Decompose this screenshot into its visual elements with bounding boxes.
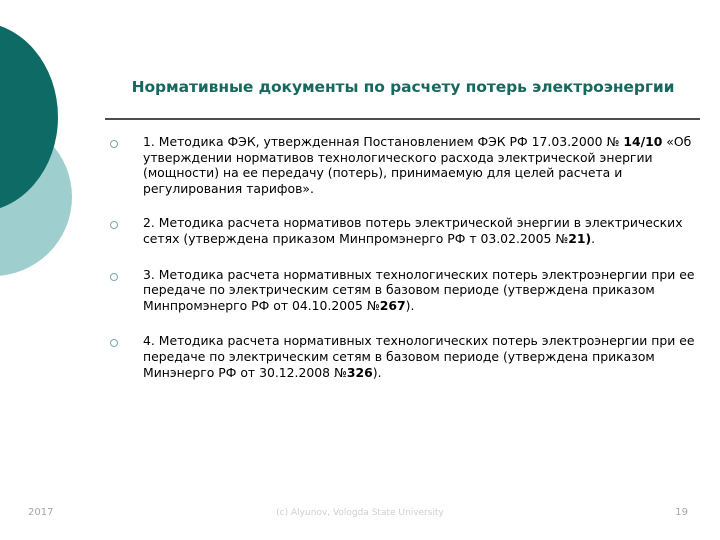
slide-canvas: Нормативные документы по расчету потерь … bbox=[0, 0, 720, 540]
bullet-text: 3. Методика расчета нормативных технолог… bbox=[143, 267, 705, 314]
decorative-circle-light-teal bbox=[0, 118, 72, 276]
bullet-text: 2. Методика расчета нормативов потерь эл… bbox=[143, 215, 705, 246]
bullet-text: 4. Методика расчета нормативных технолог… bbox=[143, 333, 705, 380]
slide-footer: 2017 (c) Alyunov, Vologda State Universi… bbox=[0, 505, 720, 527]
footer-copyright: (c) Alyunov, Vologda State University bbox=[0, 508, 720, 518]
list-item: 2. Методика расчета нормативов потерь эл… bbox=[105, 215, 705, 246]
circle-outline-bullet-icon bbox=[110, 273, 118, 281]
decorative-circle-dark-teal bbox=[0, 22, 58, 212]
footer-page-number: 19 bbox=[675, 507, 688, 518]
circle-outline-bullet-icon bbox=[110, 339, 118, 347]
bullet-list: 1. Методика ФЭК, утвержденная Постановле… bbox=[105, 134, 705, 395]
title-divider-rule bbox=[105, 118, 700, 120]
circle-outline-bullet-icon bbox=[110, 140, 118, 148]
slide-title: Нормативные документы по расчету потерь … bbox=[105, 78, 701, 97]
list-item: 1. Методика ФЭК, утвержденная Постановле… bbox=[105, 134, 705, 196]
circle-outline-bullet-icon bbox=[110, 221, 118, 229]
list-item: 3. Методика расчета нормативных технолог… bbox=[105, 267, 705, 314]
list-item: 4. Методика расчета нормативных технолог… bbox=[105, 333, 705, 380]
bullet-text: 1. Методика ФЭК, утвержденная Постановле… bbox=[143, 134, 705, 196]
